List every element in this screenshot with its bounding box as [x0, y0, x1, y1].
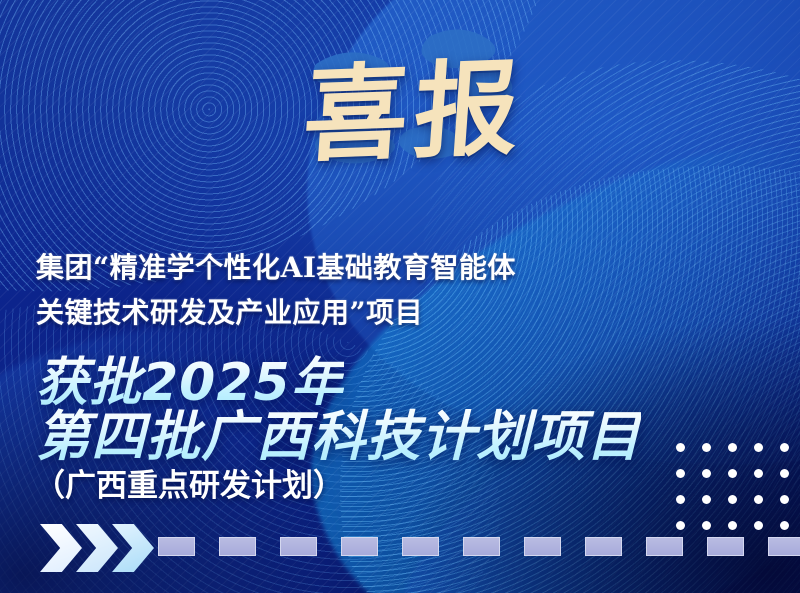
- poster-canvas: 喜报 集团“精准学个性化AI基础教育智能体 关键技术研发及产业应用”项目 获批2…: [0, 0, 800, 593]
- grid-dot: [754, 495, 763, 504]
- grid-dot: [780, 443, 789, 452]
- grid-dot: [728, 495, 737, 504]
- dash-segment: [158, 537, 195, 556]
- chevron-right-icon: [76, 524, 118, 572]
- grid-dot: [754, 469, 763, 478]
- grid-dot: [676, 443, 685, 452]
- grid-dot: [702, 443, 711, 452]
- grid-dot: [676, 521, 685, 530]
- grid-dot: [676, 469, 685, 478]
- grid-dot: [702, 521, 711, 530]
- grid-dot: [780, 469, 789, 478]
- grid-dot: [728, 469, 737, 478]
- calligraphy-title: 喜报: [273, 7, 556, 196]
- dash-segment: [219, 537, 256, 556]
- dash-segment: [585, 537, 622, 556]
- grid-dot: [702, 495, 711, 504]
- grid-dot: [780, 495, 789, 504]
- program-parenthetical: （广西重点研发计划）: [34, 460, 344, 505]
- grid-dot: [728, 443, 737, 452]
- grid-dot: [754, 443, 763, 452]
- chevron-right-icon: [40, 524, 82, 572]
- dash-segment: [463, 537, 500, 556]
- dash-segment: [402, 537, 439, 556]
- grid-dot: [728, 521, 737, 530]
- grid-dot: [780, 521, 789, 530]
- chevron-right-icon: [112, 524, 154, 572]
- grid-dot: [676, 495, 685, 504]
- calligraphy-title-block: 喜报: [280, 12, 550, 192]
- grid-dot: [754, 521, 763, 530]
- dash-segment: [280, 537, 317, 556]
- dash-segment: [341, 537, 378, 556]
- subtitle-line-2: 关键技术研发及产业应用”项目: [36, 291, 423, 331]
- grid-dot: [702, 469, 711, 478]
- dash-segment: [524, 537, 561, 556]
- chevron-group: [40, 524, 148, 572]
- subtitle-line-1: 集团“精准学个性化AI基础教育智能体: [36, 246, 516, 286]
- dot-grid-decoration: [676, 443, 800, 547]
